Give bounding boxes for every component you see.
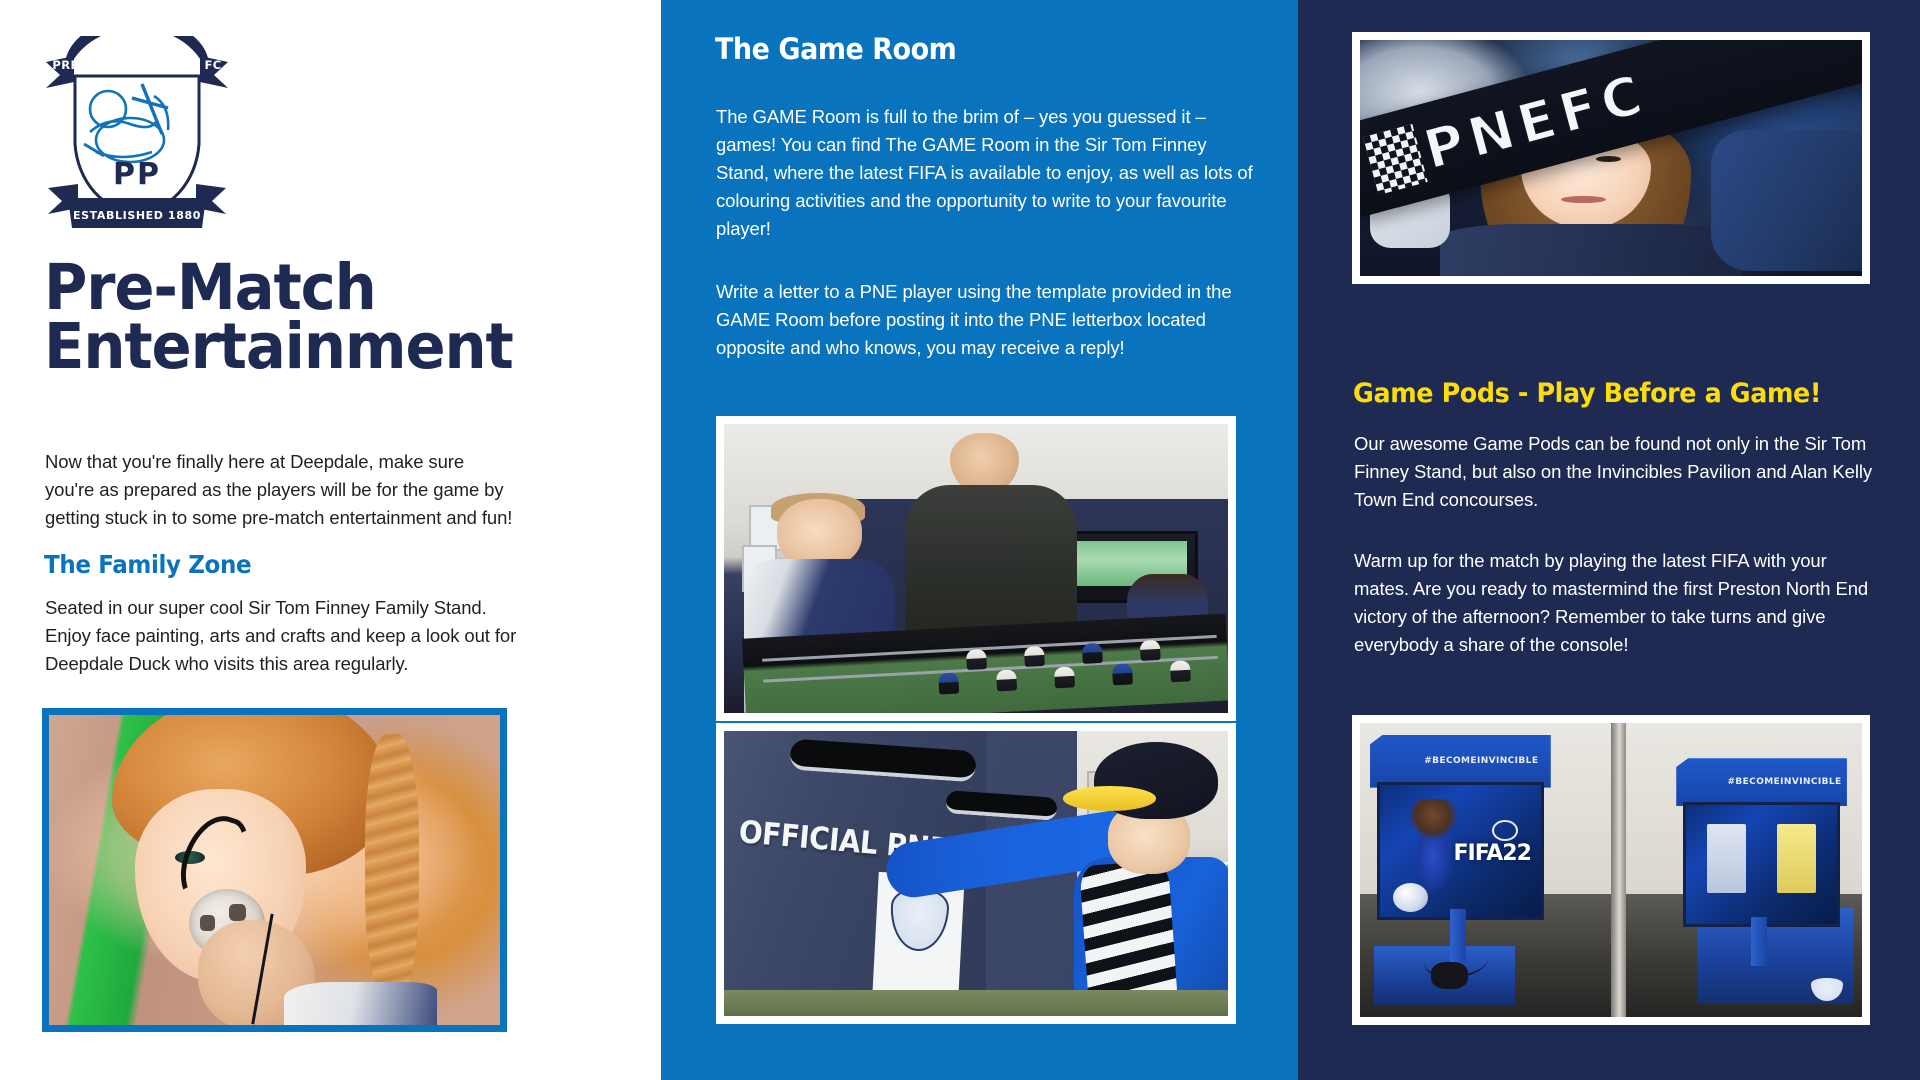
photo-detail-pod-hood: #BECOMEINVINCIBLE <box>1676 758 1847 806</box>
game-pods-photo: #BECOMEINVINCIBLE FIFA22 #BECOMEINVINCIB <box>1360 723 1862 1017</box>
photo-detail-adult <box>905 433 1076 653</box>
photo-detail-team-select-panel <box>1707 824 1746 893</box>
photo-detail-table-player <box>1054 667 1075 689</box>
crest-top-banner-text: PRESTON NORTH END FC <box>52 58 221 72</box>
photo-detail-team-select-panel <box>1777 824 1816 893</box>
photo-detail-duck-beak <box>1063 786 1156 811</box>
family-zone-paragraph: Seated in our super cool Sir Tom Finney … <box>45 594 525 678</box>
photo-detail-floor <box>724 990 1228 1016</box>
pne-crest-icon <box>1810 977 1845 1002</box>
photo-detail-game-pod-left: #BECOMEINVINCIBLE FIFA22 <box>1370 735 1551 1000</box>
photo-detail-table-player <box>966 649 987 671</box>
photo-detail-jacket <box>1440 224 1741 276</box>
photo-detail-scarf <box>1079 860 1178 1008</box>
photo-detail-football <box>1393 883 1428 912</box>
photo-detail-table-player <box>996 670 1017 692</box>
photo-detail-braid <box>365 734 419 1001</box>
pne-club-crest: PRESTON NORTH END FC PP <box>42 36 232 241</box>
photo-detail-table-player <box>1082 643 1103 665</box>
family-zone-heading: The Family Zone <box>44 550 251 579</box>
photo-detail-child-in-duck-hat <box>1057 742 1228 1016</box>
photo-detail-table-player <box>1112 664 1133 686</box>
pod-hood-text: #BECOMEINVINCIBLE <box>1727 777 1841 787</box>
photo-detail-pipe <box>1611 723 1626 1017</box>
fan-mail-letterbox-photo: OFFICIAL PNEFC FAN MAIL ONLY <box>724 731 1228 1016</box>
page-title: Pre-Match Entertainment <box>44 258 608 376</box>
crest-bottom-banner-text: ESTABLISHED 1880 <box>73 209 201 222</box>
game-pods-heading: Game Pods - Play Before a Game! <box>1353 378 1821 409</box>
pod-screen-text: FIFA22 <box>1454 841 1531 866</box>
photo-detail-pod-screen <box>1683 802 1840 927</box>
page-title-line-2: Entertainment <box>44 310 513 383</box>
game-pods-paragraph-1: Our awesome Game Pods can be found not o… <box>1354 430 1882 514</box>
game-room-heading: The Game Room <box>715 32 956 66</box>
photo-detail-sleeve <box>1711 130 1862 272</box>
foosball-photo-frame <box>716 416 1236 721</box>
game-room-paragraph-2: Write a letter to a PNE player using the… <box>716 278 1261 362</box>
fan-mail-photo-frame: OFFICIAL PNEFC FAN MAIL ONLY <box>716 723 1236 1024</box>
photo-detail-game-pod-right: #BECOMEINVINCIBLE <box>1676 758 1847 999</box>
photo-detail-screen-stand <box>1751 917 1766 965</box>
photo-detail-table-player <box>1140 640 1161 662</box>
photo-detail-pod-screen: FIFA22 <box>1377 782 1543 920</box>
photo-detail-eye <box>1596 156 1621 162</box>
foosball-photo <box>724 424 1228 713</box>
photo-detail-boy-head <box>777 499 862 567</box>
crest-monogram: PP <box>113 157 161 192</box>
photo-detail-table-player <box>1024 646 1045 668</box>
brochure-page: PRESTON NORTH END FC PP <box>0 0 1920 1080</box>
game-pods-paragraph-2: Warm up for the match by playing the lat… <box>1354 547 1882 659</box>
face-painting-photo <box>49 715 500 1025</box>
photo-detail-table-player <box>938 673 959 695</box>
girl-with-scarf-photo: PNEFC <box>1360 40 1862 276</box>
photo-detail-scarf-checks <box>1363 124 1428 195</box>
photo-detail-shoulder <box>284 982 437 1025</box>
face-painting-photo-frame <box>42 708 507 1032</box>
ea-logo-icon <box>1492 820 1518 841</box>
game-room-paragraph-1: The GAME Room is full to the brim of – y… <box>716 103 1261 244</box>
game-pods-photo-frame: #BECOMEINVINCIBLE FIFA22 #BECOMEINVINCIB <box>1352 715 1870 1025</box>
left-column-panel: PRESTON NORTH END FC PP <box>0 0 661 1080</box>
photo-detail-pod-hood: #BECOMEINVINCIBLE <box>1370 735 1551 788</box>
intro-paragraph: Now that you're finally here at Deepdale… <box>45 448 515 532</box>
pod-hood-text: #BECOMEINVINCIBLE <box>1424 756 1538 766</box>
scarf-photo-frame: PNEFC <box>1352 32 1870 284</box>
photo-detail-table-player <box>1170 661 1191 683</box>
